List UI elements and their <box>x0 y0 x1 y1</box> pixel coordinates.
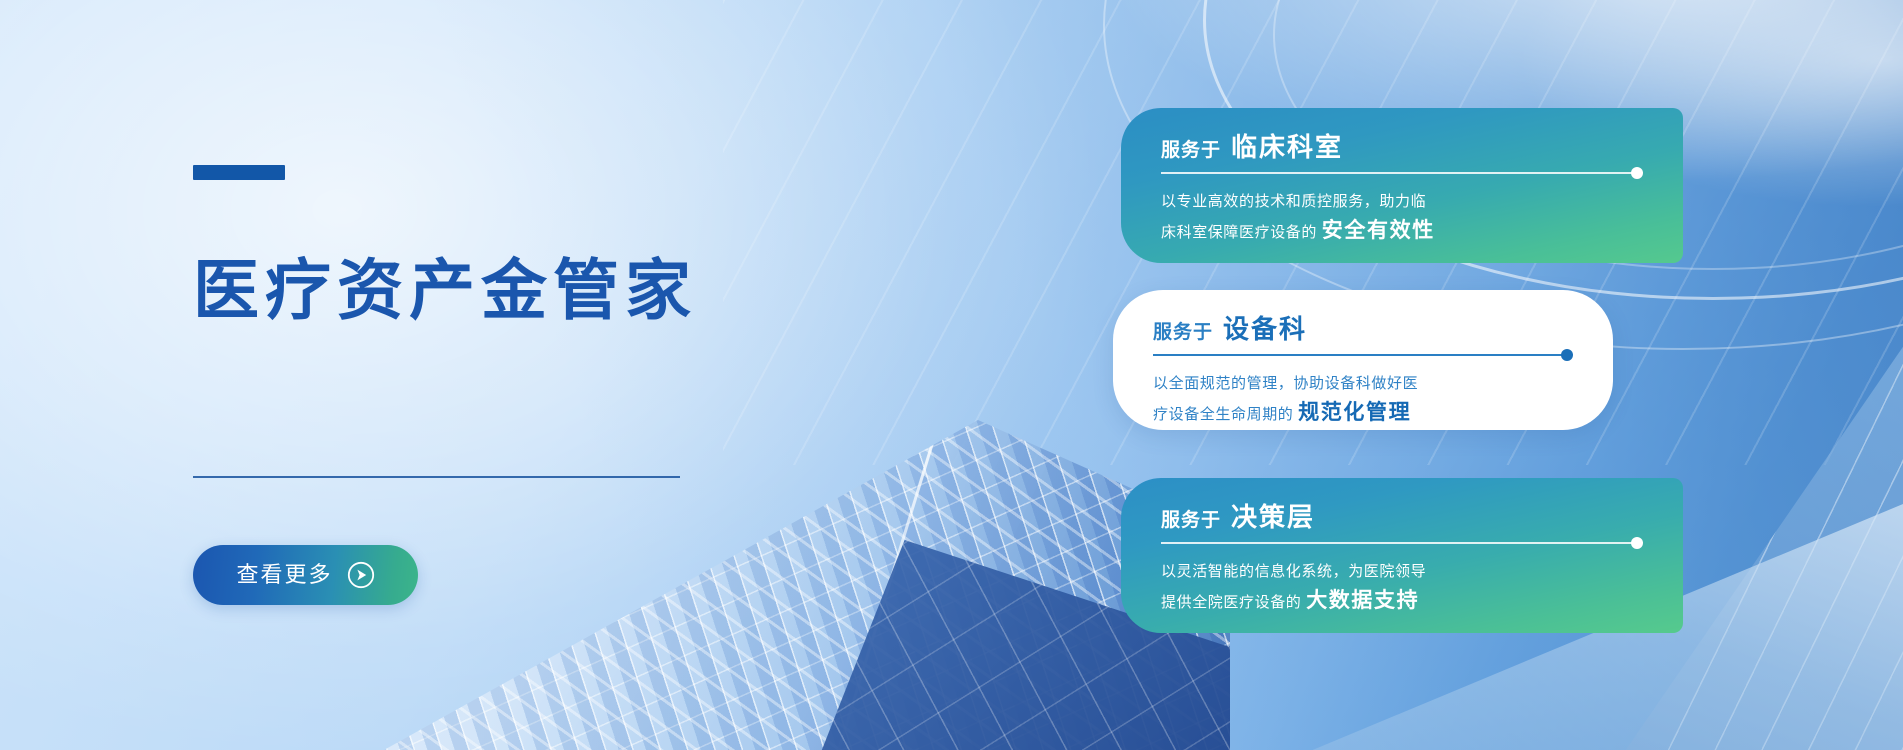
card-divider-line <box>1161 172 1633 174</box>
card-description-line-2: 疗设备全生命周期的 规范化管理 <box>1153 396 1573 430</box>
card-heading-target: 决策层 <box>1231 504 1315 530</box>
card-description-line-1: 以专业高效的技术和质控服务，助力临 <box>1161 190 1643 214</box>
card-heading-prefix: 服务于 <box>1161 141 1221 160</box>
view-more-button[interactable]: 查看更多 <box>193 545 418 605</box>
card-divider-line <box>1153 354 1563 356</box>
service-cards: 服务于 临床科室 以专业高效的技术和质控服务，助力临 床科室保障医疗设备的 安全… <box>1113 0 1903 750</box>
card-description-highlight: 大数据支持 <box>1306 589 1419 612</box>
card-description-line-1: 以全面规范的管理，协助设备科做好医 <box>1153 372 1573 396</box>
page-title: 医疗资产金管家 <box>193 257 697 323</box>
hero-banner: 医疗资产金管家 查看更多 服务于 临床科室 <box>0 0 1903 750</box>
arrow-right-circle-icon <box>347 561 375 589</box>
card-description-line-1: 以灵活智能的信息化系统，为医院领导 <box>1161 560 1643 584</box>
accent-bar <box>193 165 285 180</box>
view-more-label: 查看更多 <box>236 564 332 586</box>
card-divider <box>1161 166 1643 180</box>
card-description-line-2: 提供全院医疗设备的 大数据支持 <box>1161 584 1643 618</box>
card-description: 以专业高效的技术和质控服务，助力临 床科室保障医疗设备的 安全有效性 <box>1161 190 1643 248</box>
card-description-line-2-prefix: 提供全院医疗设备的 <box>1161 594 1301 611</box>
service-card-clinical[interactable]: 服务于 临床科室 以专业高效的技术和质控服务，助力临 床科室保障医疗设备的 安全… <box>1121 108 1683 263</box>
card-divider-line <box>1161 542 1633 544</box>
card-description-highlight: 规范化管理 <box>1298 401 1411 424</box>
card-divider-dot <box>1631 537 1643 549</box>
service-card-equipment[interactable]: 服务于 设备科 以全面规范的管理，协助设备科做好医 疗设备全生命周期的 规范化管… <box>1113 290 1613 430</box>
card-heading-prefix: 服务于 <box>1153 323 1213 342</box>
card-divider-dot <box>1631 167 1643 179</box>
card-description-line-2: 床科室保障医疗设备的 安全有效性 <box>1161 214 1643 248</box>
card-divider <box>1153 348 1573 362</box>
card-heading-target: 临床科室 <box>1231 134 1343 160</box>
hero-left-column: 医疗资产金管家 查看更多 <box>193 0 813 750</box>
card-heading: 服务于 设备科 <box>1153 316 1573 342</box>
card-heading: 服务于 决策层 <box>1161 504 1643 530</box>
card-description-line-2-prefix: 床科室保障医疗设备的 <box>1161 224 1317 241</box>
card-description-line-2-prefix: 疗设备全生命周期的 <box>1153 406 1293 423</box>
card-description: 以全面规范的管理，协助设备科做好医 疗设备全生命周期的 规范化管理 <box>1153 372 1573 430</box>
card-heading-prefix: 服务于 <box>1161 511 1221 530</box>
card-description: 以灵活智能的信息化系统，为医院领导 提供全院医疗设备的 大数据支持 <box>1161 560 1643 618</box>
card-heading: 服务于 临床科室 <box>1161 134 1643 160</box>
horizontal-divider <box>193 476 680 478</box>
card-heading-target: 设备科 <box>1223 316 1307 342</box>
card-divider <box>1161 536 1643 550</box>
card-description-highlight: 安全有效性 <box>1322 219 1435 242</box>
card-divider-dot <box>1561 349 1573 361</box>
service-card-decision[interactable]: 服务于 决策层 以灵活智能的信息化系统，为医院领导 提供全院医疗设备的 大数据支… <box>1121 478 1683 633</box>
